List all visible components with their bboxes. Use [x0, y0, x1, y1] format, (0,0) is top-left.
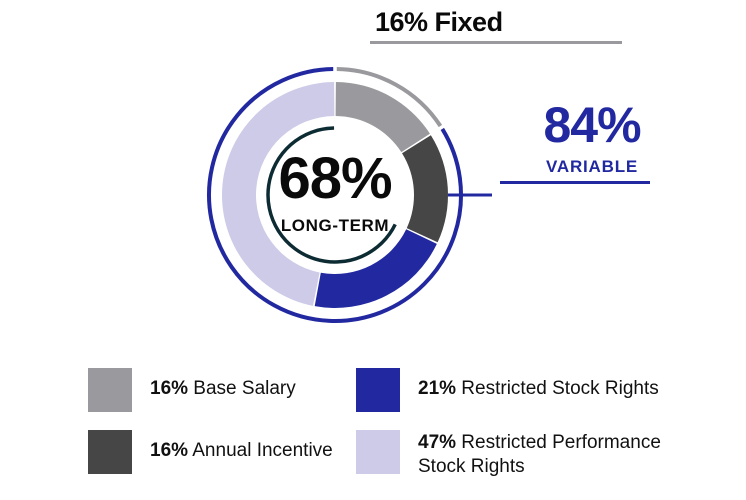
legend-label-annual-incentive: 16% Annual Incentive — [150, 430, 333, 463]
legend-label-restricted-performance-stock-rights: 47% Restricted Performance Stock Rights — [418, 430, 698, 479]
legend-percent: 16% — [150, 378, 188, 399]
legend-item-base-salary: 16% Base Salary — [88, 368, 356, 412]
legend: 16% Base Salary 21% Restricted Stock Rig… — [88, 368, 708, 497]
legend-name: Base Salary — [188, 378, 296, 399]
fixed-label: 16% Fixed — [370, 8, 630, 38]
legend-swatch-base-salary — [88, 368, 132, 412]
legend-label-base-salary: 16% Base Salary — [150, 368, 296, 401]
donut-chart-area: 68% LONG-TERM 16% Fixed 84% VARIABLE — [0, 0, 746, 360]
legend-swatch-restricted-stock-rights — [356, 368, 400, 412]
variable-callout: 84% VARIABLE — [492, 100, 692, 184]
donut-segment-annual-incentive[interactable] — [402, 135, 448, 242]
legend-percent: 16% — [150, 440, 188, 461]
legend-item-restricted-performance-stock-rights: 47% Restricted Performance Stock Rights — [356, 430, 706, 479]
legend-percent: 21% — [418, 378, 456, 399]
variable-percent: 84% — [492, 100, 692, 150]
legend-label-restricted-stock-rights: 21% Restricted Stock Rights — [418, 368, 659, 401]
donut-inner-group-arcs — [268, 128, 395, 262]
legend-row: 16% Annual Incentive 47% Restricted Perf… — [88, 430, 708, 479]
donut-segments — [222, 82, 448, 308]
legend-name: Annual Incentive — [188, 440, 333, 461]
fixed-callout: 16% Fixed — [370, 8, 630, 44]
legend-item-annual-incentive: 16% Annual Incentive — [88, 430, 356, 479]
variable-sublabel: VARIABLE — [492, 157, 692, 177]
legend-percent: 47% — [418, 432, 456, 453]
legend-swatch-restricted-performance-stock-rights — [356, 430, 400, 474]
legend-name: Restricted Stock Rights — [456, 378, 659, 399]
variable-underline — [500, 181, 650, 184]
fixed-underline — [370, 41, 622, 44]
donut-segment-base-salary[interactable] — [336, 82, 430, 152]
legend-item-restricted-stock-rights: 21% Restricted Stock Rights — [356, 368, 706, 412]
group-arc-long-term — [268, 128, 395, 262]
pay-mix-donut-chart: 68% LONG-TERM 16% Fixed 84% VARIABLE 16%… — [0, 0, 746, 500]
legend-swatch-annual-incentive — [88, 430, 132, 474]
legend-row: 16% Base Salary 21% Restricted Stock Rig… — [88, 368, 708, 412]
donut-segment-restricted-stock-rights[interactable] — [315, 229, 437, 308]
